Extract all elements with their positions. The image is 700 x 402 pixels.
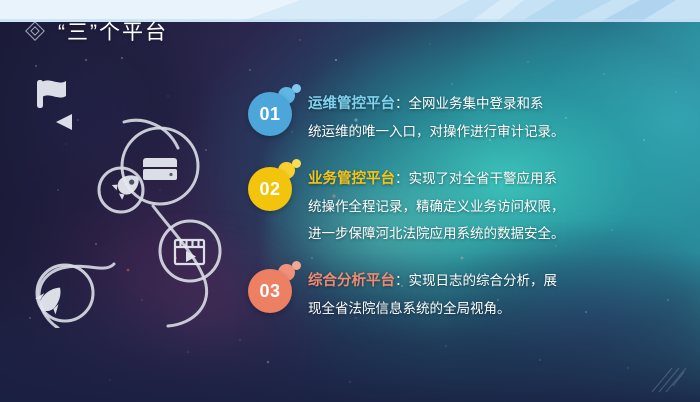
arrow-icon [56,114,72,130]
list-item: 01 运维管控平台：全网业务集中登录和系 统运维的唯一入口，对操作进行审计记录。 [246,84,686,145]
list-item: 03 综合分析平台：实现日志的综合分析，展 现全省法院信息系统的全局视角。 [246,261,686,322]
badge-01: 01 [246,84,308,142]
flag-icon [37,80,66,108]
item-line: 统运维的唯一入口，对操作进行审计记录。 [308,118,686,145]
item-line: 业务管控平台：实现了对全省干警应用系 [308,165,686,193]
watermark-icon [646,366,690,394]
badge-number: 02 [248,167,292,211]
badge-number: 01 [248,92,292,136]
item-text: 业务管控平台：实现了对全省干警应用系 统操作全程记录，精确定义业务访问权限， 进… [308,159,686,247]
item-text: 运维管控平台：全网业务集中登录和系 统运维的唯一入口，对操作进行审计记录。 [308,84,686,145]
slide-header: “三”个平台 [24,16,168,46]
item-lead: 运维管控平台 [308,96,395,112]
item-line: 运维管控平台：全网业务集中登录和系 [308,90,686,118]
platform-list: 01 运维管控平台：全网业务集中登录和系 统运维的唯一入口，对操作进行审计记录。… [246,84,686,336]
badge-03: 03 [246,261,308,319]
item-text: 综合分析平台：实现日志的综合分析，展 现全省法院信息系统的全局视角。 [308,261,686,322]
item-line: 综合分析平台：实现日志的综合分析，展 [308,267,686,295]
list-item: 02 业务管控平台：实现了对全省干警应用系 统操作全程记录，精确定义业务访问权限… [246,159,686,247]
item-line: 现全省法院信息系统的全局视角。 [308,295,686,322]
item-colon: ： [395,273,409,288]
item-colon: ： [395,171,409,186]
item-lead: 业务管控平台 [308,171,395,187]
item-colon: ： [395,96,409,111]
presentation-slide: “三”个平台 [0,0,700,402]
server-icon [143,158,177,180]
item-line-text: 实现日志的综合分析，展 [409,273,558,288]
diamond-icon [24,20,46,42]
badge-02: 02 [246,159,308,217]
journey-illustration [18,78,233,328]
item-lead: 综合分析平台 [308,273,395,289]
item-line: 统操作全程记录，精确定义业务访问权限， [308,193,686,220]
badge-number: 03 [248,269,292,313]
item-line-text: 全网业务集中登录和系 [409,96,544,111]
node-missile [37,265,93,321]
item-line-text: 实现了对全省干警应用系 [409,171,558,186]
item-line: 进一步保障河北法院应用系统的数据安全。 [308,220,686,247]
page-title: “三”个平台 [58,16,168,46]
